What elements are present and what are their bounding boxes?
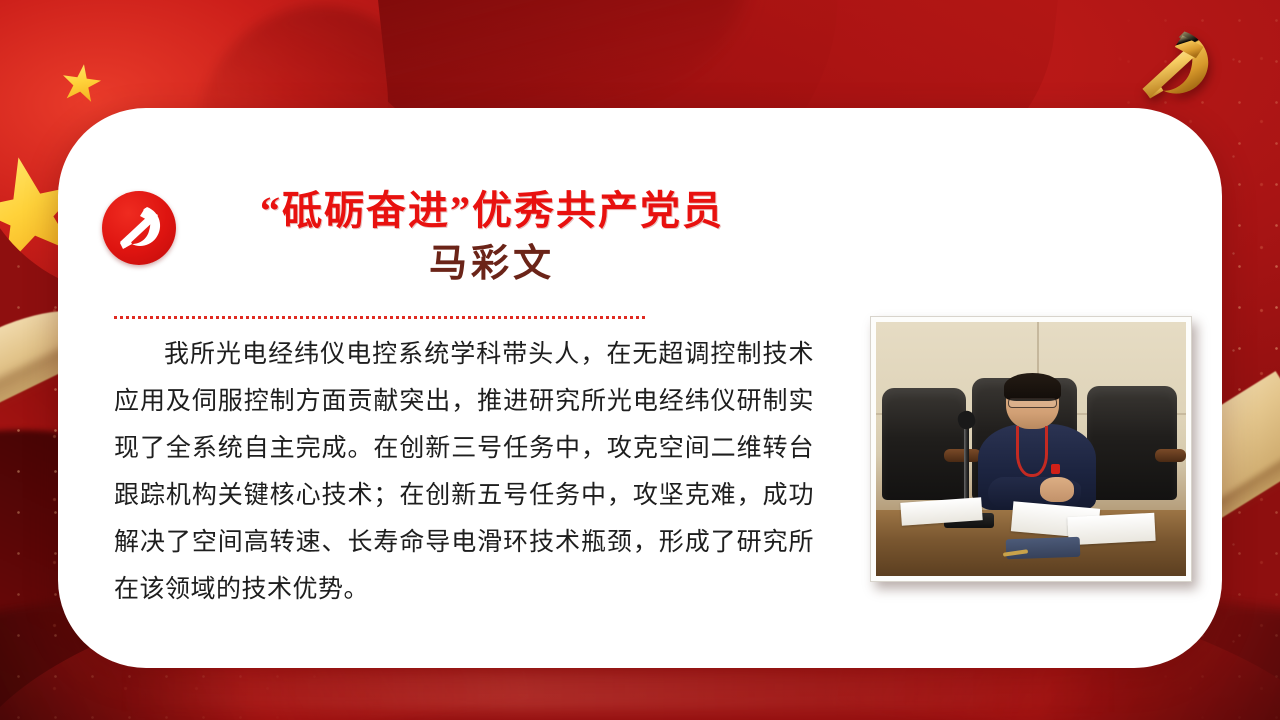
chair-armrest-right bbox=[1155, 449, 1186, 462]
chair-armrest-left bbox=[944, 449, 981, 462]
red-silk-highlight-bottom bbox=[120, 670, 1120, 712]
title-block: “砥砺奋进”优秀共产党员 马彩文 bbox=[202, 186, 782, 289]
slide-root: “砥砺奋进”优秀共产党员 马彩文 我所光电经纬仪电控系统学科带头人，在无超调控制… bbox=[0, 0, 1280, 720]
desk-folder bbox=[1006, 537, 1081, 560]
award-description: 我所光电经纬仪电控系统学科带头人，在无超调控制技术应用及伺服控制方面贡献突出，推… bbox=[114, 330, 814, 612]
office-chair-left bbox=[882, 388, 966, 500]
person-hair bbox=[1004, 373, 1061, 401]
communist-party-emblem bbox=[102, 191, 176, 265]
desk-paper-3 bbox=[1068, 513, 1156, 545]
eyeglasses-icon bbox=[1008, 398, 1058, 408]
page-title: “砥砺奋进”优秀共产党员 bbox=[202, 186, 782, 236]
portrait-photo bbox=[876, 322, 1186, 576]
portrait-photo-frame bbox=[870, 316, 1192, 582]
person-hand bbox=[1040, 477, 1074, 502]
red-lanyard bbox=[1016, 426, 1049, 477]
dotted-divider bbox=[114, 316, 646, 319]
party-badge-pin bbox=[1051, 464, 1060, 474]
awardee-name: 马彩文 bbox=[202, 240, 782, 289]
hammer-sickle-gold-emblem bbox=[1114, 22, 1232, 108]
hammer-sickle-icon bbox=[102, 191, 176, 265]
content-card: “砥砺奋进”优秀共产党员 马彩文 我所光电经纬仪电控系统学科带头人，在无超调控制… bbox=[58, 108, 1222, 668]
office-chair-right bbox=[1087, 386, 1177, 500]
flag-star-small-1 bbox=[59, 62, 104, 107]
